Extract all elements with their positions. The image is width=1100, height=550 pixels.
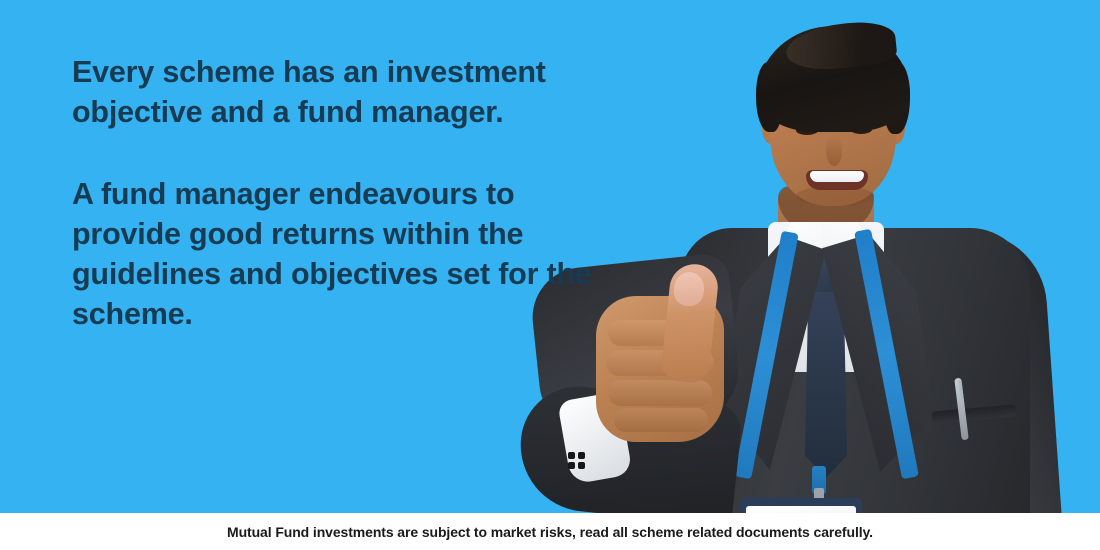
headline-paragraph-2: A fund manager endeavours to provide goo…	[72, 174, 592, 334]
headline-paragraph-1: Every scheme has an investment objective…	[72, 52, 592, 132]
copy-block: Every scheme has an investment objective…	[72, 52, 592, 334]
nose	[826, 136, 842, 166]
disclaimer-text: Mutual Fund investments are subject to m…	[227, 524, 873, 540]
cuff-button	[578, 462, 585, 469]
cuff-button	[578, 452, 585, 459]
teeth	[810, 171, 864, 182]
finger	[614, 408, 708, 432]
mutual-fund-awareness-banner: Every scheme has an investment objective…	[0, 0, 1100, 550]
finger	[608, 380, 712, 406]
cuff-button	[568, 452, 575, 459]
cuff-button	[568, 462, 575, 469]
disclaimer-bar: Mutual Fund investments are subject to m…	[0, 513, 1100, 550]
